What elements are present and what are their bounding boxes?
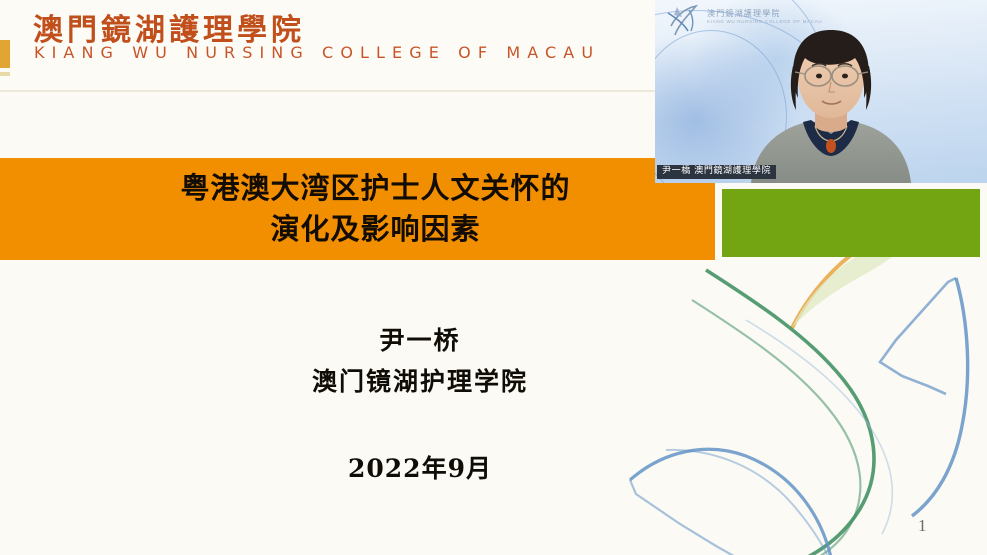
page-number: 1 [918,516,927,536]
college-name-english: KIANG WU NURSING COLLEGE OF MACAU [34,43,600,62]
presentation-slide: 澳門鏡湖護理學院 KIANG WU NURSING COLLEGE OF MAC… [0,0,987,555]
author-affiliation: 澳门镜湖护理学院 [0,361,840,402]
header-accent-tab-secondary [0,72,10,76]
presenter-caption: 尹一橋 澳門鏡湖護理學院 [657,165,776,179]
slide-title: 粤港澳大湾区护士人文关怀的 演化及影响因素 [144,168,570,250]
slide-title-band: 粤港澳大湾区护士人文关怀的 演化及影响因素 [0,158,715,260]
header-divider [0,90,660,92]
presenter-image [655,0,987,183]
green-accent-band [722,189,980,257]
header-accent-tab [0,40,10,68]
presenter-video-panel[interactable]: 澳門鏡湖護理學院 KIANG WU NURSING COLLEGE OF MAC… [655,0,987,183]
author-name: 尹一桥 [0,320,840,361]
slide-body: 尹一桥 澳门镜湖护理学院 [0,320,840,403]
presentation-date: 2022年9月 [0,449,840,485]
